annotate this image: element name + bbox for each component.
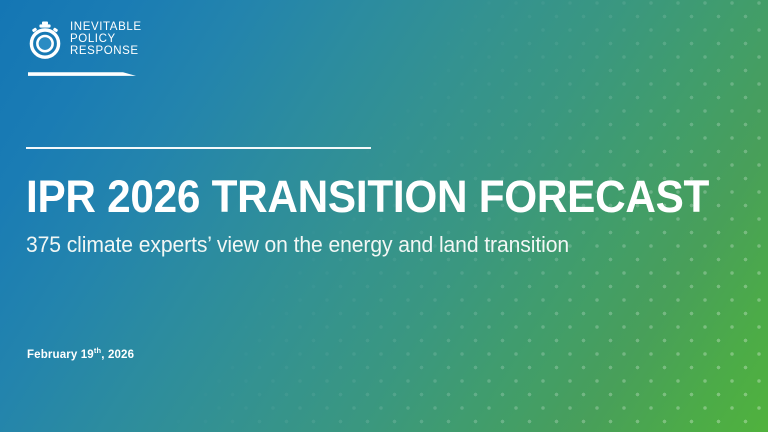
title-slide: INEVITABLE POLICY RESPONSE IPR 2026 TRAN…: [0, 0, 768, 432]
page-subtitle: 375 climate experts’ view on the energy …: [26, 232, 569, 258]
presentation-date: February 19th, 2026: [27, 349, 134, 361]
logo-wordmark: INEVITABLE POLICY RESPONSE: [70, 20, 142, 58]
logo-line-3: RESPONSE: [70, 46, 142, 58]
stopwatch-icon: [28, 21, 62, 59]
logo-underline-bar: [28, 64, 136, 70]
page-title: IPR 2026 TRANSITION FORECAST: [26, 174, 709, 221]
divider-rule: [26, 147, 371, 149]
logo-lockup[interactable]: INEVITABLE POLICY RESPONSE: [28, 20, 142, 59]
date-month-day: February 19: [27, 349, 94, 361]
date-year: , 2026: [101, 349, 134, 361]
